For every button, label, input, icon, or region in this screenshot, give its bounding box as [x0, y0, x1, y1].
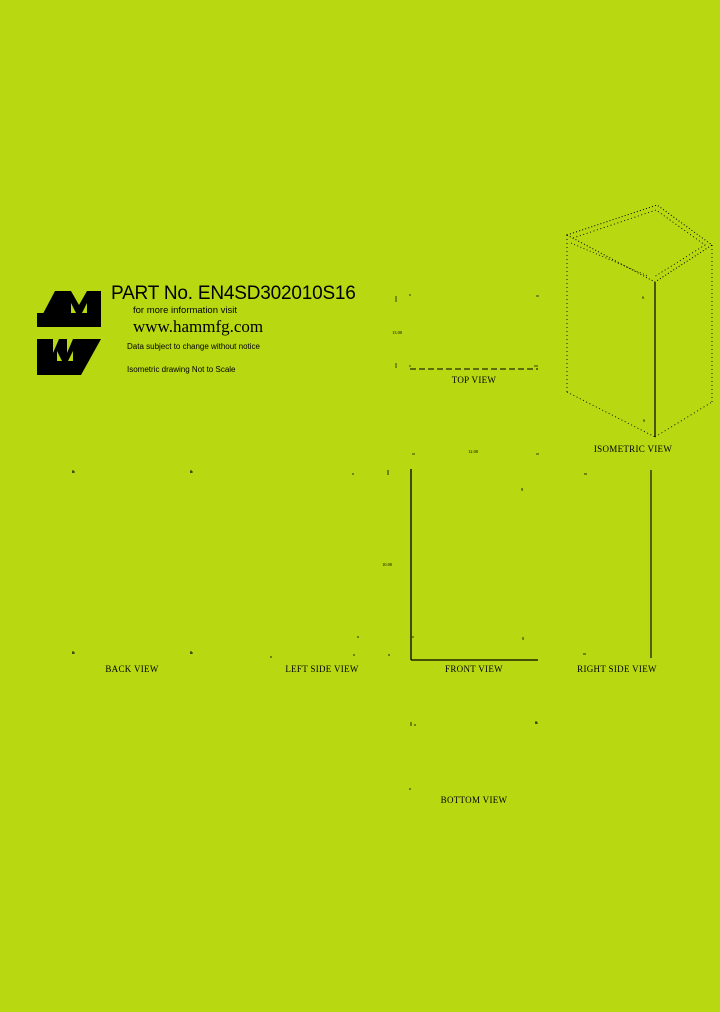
left-side-view-geometry [270, 470, 390, 657]
dim-front-view-right-upper: 8 [521, 487, 523, 492]
disclaimer-text: Data subject to change without notice [127, 341, 411, 352]
dim-isometric-lower: 6 [643, 418, 645, 423]
top-view-geometry [396, 295, 539, 369]
website-link[interactable]: www.hammfg.com [133, 317, 411, 337]
scale-note-text: Isometric drawing Not to Scale [127, 364, 411, 375]
view-label-top: TOP VIEW [424, 375, 524, 385]
more-info-text: for more information visit [133, 305, 411, 317]
right-side-view-geometry [583, 470, 651, 658]
dim-left-view-mid: 10.00 [382, 562, 392, 567]
part-number-label: PART No. EN4SD302010S16 [111, 283, 411, 305]
front-view-geometry [411, 454, 539, 660]
dim-front-view-right-lower: 8 [522, 636, 524, 641]
hammond-manufacturing-logo [35, 283, 103, 376]
view-label-back: BACK VIEW [82, 664, 182, 674]
dim-isometric-upper: 6 [642, 295, 644, 300]
view-label-isometric: ISOMETRIC VIEW [578, 444, 688, 454]
view-label-left: LEFT SIDE VIEW [272, 664, 372, 674]
view-label-front: FRONT VIEW [424, 664, 524, 674]
drawing-geometry [0, 0, 720, 1012]
dim-front-view-top: 12.00 [468, 449, 478, 454]
bottom-view-geometry [409, 721, 538, 789]
view-label-right: RIGHT SIDE VIEW [562, 664, 672, 674]
back-view-geometry [72, 470, 193, 654]
title-block-text: PART No. EN4SD302010S16 for more informa… [111, 283, 411, 375]
view-label-bottom: BOTTOM VIEW [424, 795, 524, 805]
isometric-view-geometry [567, 205, 712, 437]
drawing-sheet: 13.00 12.00 10.00 8 8 6 6 TOP VIEW ISOME… [0, 0, 720, 1012]
title-block: PART No. EN4SD302010S16 for more informa… [35, 283, 415, 383]
